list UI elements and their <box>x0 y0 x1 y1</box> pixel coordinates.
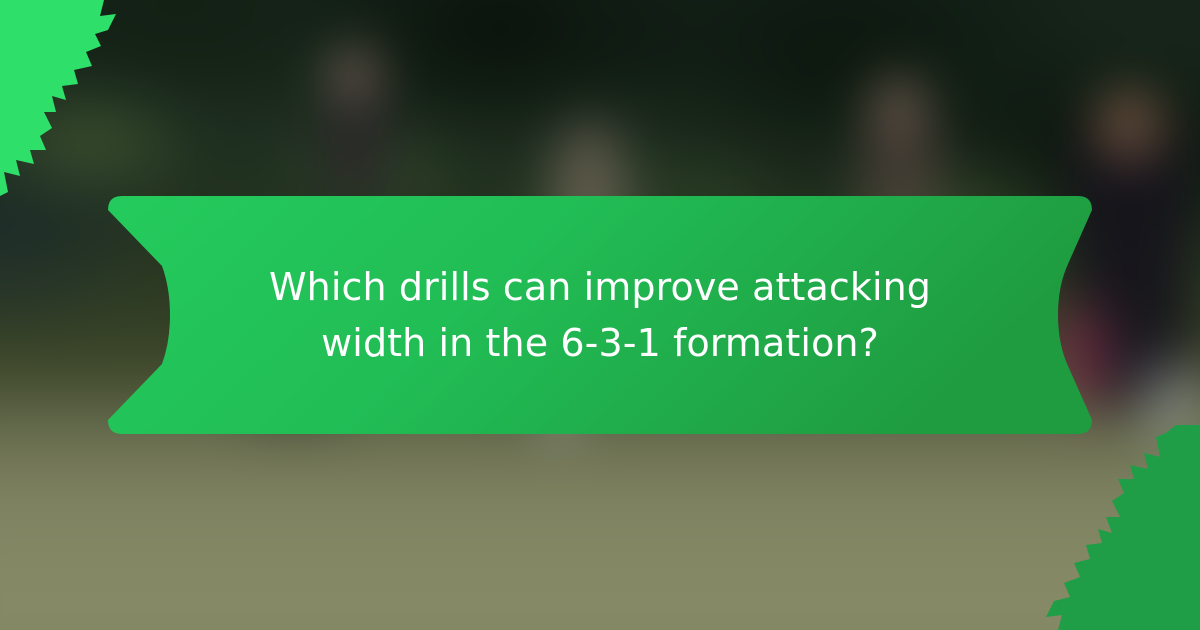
blurred-person-left-head <box>332 50 376 96</box>
question-text: Which drills can improve attacking width… <box>230 259 970 371</box>
blurred-object-right <box>1136 360 1200 440</box>
blurred-person-center-right-head <box>876 80 920 126</box>
poster-canvas: Which drills can improve attacking width… <box>0 0 1200 630</box>
blurred-person-right-head <box>1098 90 1160 160</box>
question-banner-text-wrapper: Which drills can improve attacking width… <box>175 196 1025 434</box>
